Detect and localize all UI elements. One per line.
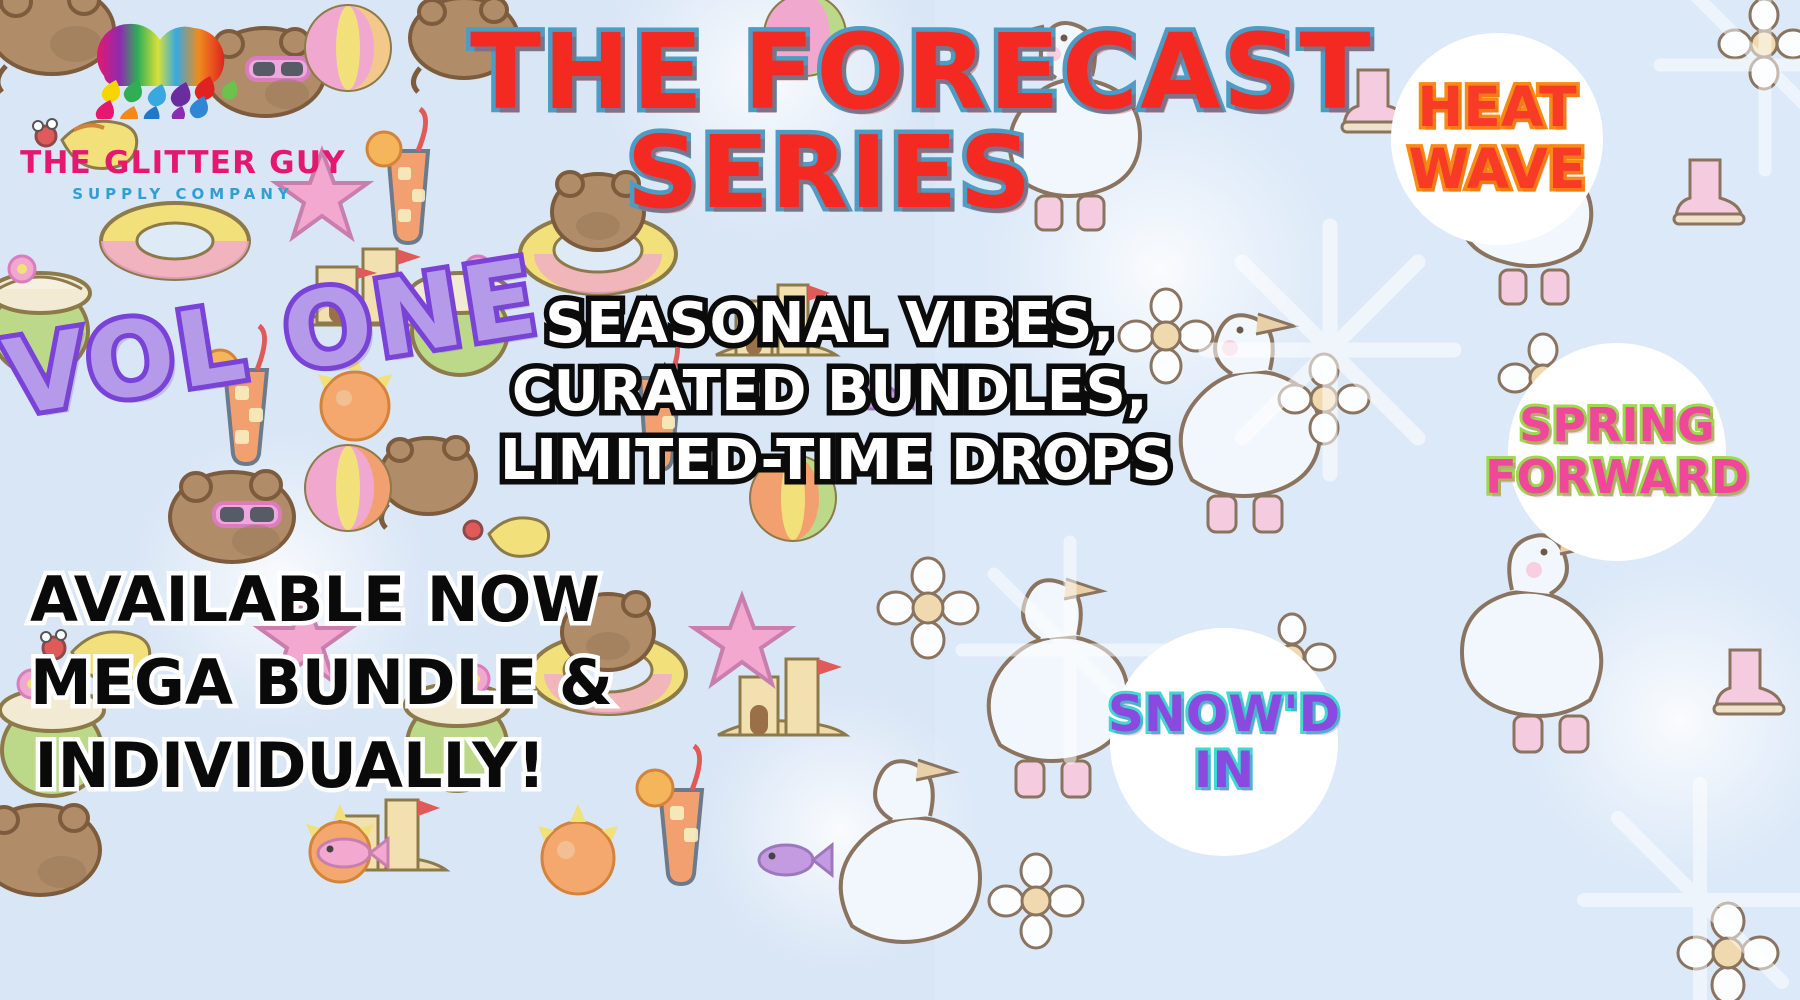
subtitle-line-2: CURATED BUNDLES, xyxy=(500,358,1160,426)
brand-logo: THE GLITTER GUY SUPPLY COMPANY xyxy=(18,8,348,203)
badge-snowd-in-word-2: IN xyxy=(1194,742,1254,798)
badge-heat-wave-word-1: HEAT xyxy=(1417,77,1576,139)
poster-canvas: THE GLITTER GUY SUPPLY COMPANY THE FOREC… xyxy=(0,0,1800,1000)
badge-heat-wave-word-2: WAVE xyxy=(1408,139,1585,201)
cta-line-1: AVAILABLE NOW xyxy=(30,558,550,641)
brand-tagline: SUPPLY COMPANY xyxy=(18,185,348,203)
badge-snowd-in-word-1: SNOW'D xyxy=(1108,686,1340,742)
headline-line-2: SERIES xyxy=(470,124,1190,222)
badge-heat-wave[interactable]: HEAT WAVE xyxy=(1391,33,1603,245)
cta-line-3: INDIVIDUALLY! xyxy=(30,724,550,807)
cta-block: AVAILABLE NOW MEGA BUNDLE & INDIVIDUALLY… xyxy=(30,558,550,807)
subtitle-line-1: SEASONAL VIBES, xyxy=(500,290,1160,358)
rainbow-cloud-icon xyxy=(64,14,284,119)
brand-wordmark: THE GLITTER GUY SUPPLY COMPANY xyxy=(18,148,348,203)
subtitle-line-3: LIMITED-TIME DROPS xyxy=(500,427,1160,495)
headline: THE FORECAST SERIES xyxy=(470,22,1190,222)
badge-snowd-in[interactable]: SNOW'D IN xyxy=(1110,628,1338,856)
cta-line-2: MEGA BUNDLE & xyxy=(30,641,550,724)
headline-line-1: THE FORECAST xyxy=(470,22,1190,124)
badge-spring-forward-word-1: SPRING xyxy=(1519,400,1715,452)
brand-name: THE GLITTER GUY xyxy=(18,148,348,179)
badge-spring-forward-word-2: FORWARD xyxy=(1485,452,1749,504)
badge-spring-forward[interactable]: SPRING FORWARD xyxy=(1508,343,1726,561)
subtitle-block: SEASONAL VIBES, CURATED BUNDLES, LIMITED… xyxy=(500,290,1160,495)
